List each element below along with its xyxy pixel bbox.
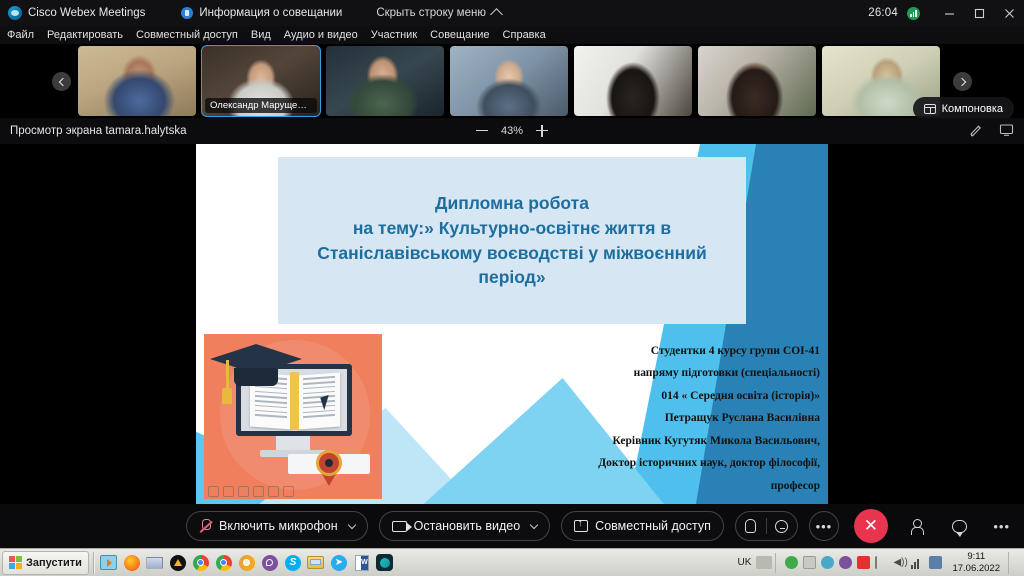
menu-item-help[interactable]: Справка [503,29,546,41]
tassel [226,360,229,390]
end-meeting-icon: ✕ [864,516,878,536]
more-options-label: ••• [816,519,833,534]
video-feed [326,46,444,116]
slide-body-line: Керівник Кугутяк Микола Васильович, [548,430,820,452]
microphone-label: Включить микрофон [219,519,338,533]
end-meeting-button[interactable]: ✕ [854,509,888,543]
meeting-info-button[interactable]: Информация о совещании [181,7,342,19]
action-flag-icon[interactable] [875,556,888,569]
slide-illustration [204,334,382,499]
network-status-icon[interactable] [907,7,920,20]
windows-taskbar: Запустити [0,548,1024,576]
tray-camera-icon[interactable] [756,556,772,569]
viber-tray-icon[interactable] [839,556,852,569]
chevron-down-icon[interactable] [530,520,538,528]
autocad-icon[interactable] [168,553,188,573]
slide-body-line: напряму підготовки (спеціальності) [548,362,820,384]
close-button[interactable] [994,0,1024,26]
app-title: Cisco Webex Meetings [28,7,145,19]
graduation-cap-base [234,368,278,386]
chrome-icon[interactable] [191,553,211,573]
webex-logo-icon [8,6,22,20]
start-label: Запустити [26,557,82,569]
clock-time: 9:11 [952,551,1000,563]
chat-panel-icon[interactable] [952,520,967,533]
slide-body-text: Студентки 4 курсу групи СОІ-41 напряму п… [548,340,820,497]
camera-icon [392,521,407,532]
participant-tile[interactable] [698,46,816,116]
webex-meeting-window: Cisco Webex Meetings Информация о совеща… [0,0,1024,576]
zoom-in-button[interactable] [536,125,548,137]
toolbar-icon-5 [268,486,279,497]
record-button[interactable] [736,519,766,533]
tray-divider [775,553,776,573]
toolbar-icon-6 [283,486,294,497]
layout-button[interactable]: Компоновка [913,97,1014,120]
seal-icon [316,450,342,476]
slide-title: Дипломна робота на тему:» Культурно-осві… [303,191,721,290]
slide-title-card: Дипломна робота на тему:» Культурно-осві… [278,157,746,324]
smiley-icon [775,520,788,533]
participants-panel-icon[interactable] [911,519,926,534]
telegram-icon[interactable]: ➤ [329,553,349,573]
meeting-info-label: Информация о совещании [199,7,342,19]
chrome-canary-icon[interactable] [237,553,257,573]
layout-label: Компоновка [942,103,1003,115]
firefox-icon[interactable] [122,553,142,573]
tray-icons: ◀)) [779,556,948,569]
microphone-muted-icon [199,519,212,534]
keyboard-layout-indicator[interactable]: UK [733,557,757,568]
chevron-left-icon [58,77,66,85]
info-icon [181,7,193,19]
skype-icon[interactable]: S [283,553,303,573]
control-bar-right-actions: ••• [911,519,1010,534]
slide-body-line: професор [548,475,820,497]
participant-tile[interactable] [78,46,196,116]
hide-menubar-button[interactable]: Скрыть строку меню [376,7,501,19]
share-label: Совместный доступ [595,519,711,533]
menu-item-meeting[interactable]: Совещание [430,29,489,41]
chevron-up-icon [490,8,503,21]
scroll-left-button[interactable] [52,72,71,91]
menu-item-file[interactable]: Файл [7,29,34,41]
word-icon[interactable]: W [352,553,372,573]
taskbar-clock[interactable]: 9:11 17.06.2022 [948,551,1008,575]
start-button[interactable]: Запустити [2,551,89,575]
zoom-out-button[interactable] [476,125,488,137]
participant-tile-active-speaker[interactable]: Олександр Марущенко [202,46,320,116]
toolbar-icon-3 [238,486,249,497]
title-bar: Cisco Webex Meetings Информация о совеща… [0,0,1024,26]
printer-icon[interactable] [803,556,816,569]
share-bar-actions [969,123,1014,140]
meeting-control-bar: Включить микрофон Остановить видео Совме… [0,504,1024,548]
toolbar-icon-4 [253,486,264,497]
chevron-right-icon [957,77,965,85]
stop-video-button[interactable]: Остановить видео [379,511,551,541]
volume-icon[interactable]: ◀)) [893,556,906,569]
meeting-timer: 26:04 [868,7,898,19]
chevron-down-icon[interactable] [347,520,355,528]
security-shield-icon[interactable] [785,556,798,569]
zoom-level-label: 43% [501,125,523,137]
clock-date: 17.06.2022 [952,563,1000,575]
toolbar-icon-2 [223,486,234,497]
menu-item-share[interactable]: Совместный доступ [136,29,238,41]
slide-body-line: Доктор історичних наук, доктор філософії… [548,452,820,474]
participant-tile[interactable] [326,46,444,116]
display-settings-icon[interactable] [929,556,942,569]
menu-item-view[interactable]: Вид [251,29,271,41]
menu-item-edit[interactable]: Редактировать [47,29,123,41]
tassel-end [222,388,232,404]
system-tray: UK ◀)) 9:11 17.06.2022 [733,549,1024,576]
share-content-button[interactable]: Совместный доступ [561,511,724,541]
participant-tile[interactable] [450,46,568,116]
video-feed [698,46,816,116]
mail-icon[interactable] [145,553,165,573]
zoom-controls: 43% [452,125,572,137]
annotate-icon[interactable] [969,123,983,140]
monitor-stand [276,436,310,450]
shared-content-stage: Дипломна робота на тему:» Культурно-осві… [0,144,1024,504]
panel-more-button[interactable]: ••• [993,519,1010,534]
scroll-right-button[interactable] [953,72,972,91]
toolbar-icon-1 [208,486,219,497]
network-tray-icon[interactable] [911,556,924,569]
slide-body-line: Студентки 4 курсу групи СОІ-41 [548,340,820,362]
menu-bar: Файл Редактировать Совместный доступ Вид… [0,26,1024,44]
menu-item-participant[interactable]: Участник [371,29,417,41]
viber-icon[interactable] [260,553,280,573]
share-screen-icon [574,520,588,532]
file-explorer-icon[interactable] [306,553,326,573]
screen-share-bar: Просмотр экрана tamara.halytska 43% [0,118,1024,144]
video-thumbnails: Олександр Марущенко [78,46,940,116]
participant-name-label: Олександр Марущенко [205,98,317,113]
windows-logo-icon [9,556,22,569]
slide-body-line: 014 « Середня освіта (історія)» [548,385,820,407]
webex-taskbar-icon[interactable] [375,553,395,573]
show-desktop-button[interactable] [1008,552,1024,574]
reactions-button[interactable] [767,520,797,533]
taskbar-divider [93,552,95,574]
minimize-button[interactable] [934,0,964,26]
record-react-group [735,511,798,541]
menu-item-audio-video[interactable]: Аудио и видео [284,29,358,41]
presentation-slide[interactable]: Дипломна робота на тему:» Культурно-осві… [196,144,828,504]
video-feed [78,46,196,116]
media-player-icon[interactable] [99,553,119,573]
app-identity: Cisco Webex Meetings [8,6,145,20]
media-tray-icon[interactable] [857,556,870,569]
video-feed [574,46,692,116]
share-title: Просмотр экрана tamara.halytska [10,125,187,137]
record-icon [745,519,756,533]
maximize-button[interactable] [964,0,994,26]
quick-launch-icons: S ➤ W [99,553,395,573]
more-options-button[interactable]: ••• [809,511,839,541]
video-feed [450,46,568,116]
participant-video-strip: Олександр Марущенко Компоновка [0,44,1024,118]
unmute-microphone-button[interactable]: Включить микрофон [186,511,368,541]
slide-body-line: Петращук Руслана Василівна [548,407,820,429]
video-label: Остановить видео [414,519,521,533]
hide-menubar-label: Скрыть строку меню [376,7,486,19]
unity-web-player-icon[interactable] [821,556,834,569]
image-edit-toolbar[interactable] [208,486,294,497]
view-screen-icon[interactable] [999,123,1014,140]
participant-tile[interactable] [574,46,692,116]
layout-icon [924,104,936,114]
chrome-alt-icon[interactable] [214,553,234,573]
